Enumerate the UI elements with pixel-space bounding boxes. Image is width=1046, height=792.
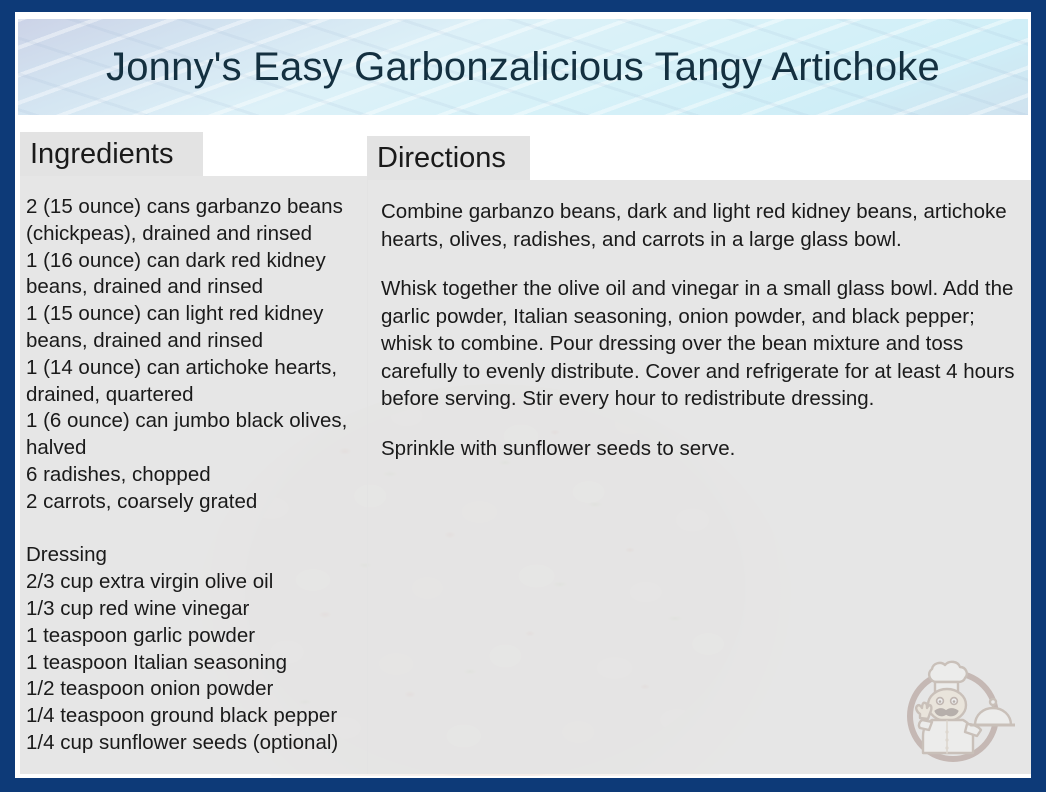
ingredient-item: 2 (15 ounce) cans garbanzo beans (chickp… <box>26 194 362 248</box>
dressing-item: 1/4 teaspoon ground black pepper <box>26 703 362 730</box>
directions-list: Combine garbanzo beans, dark and light r… <box>367 180 1031 774</box>
ingredient-item: 1 (15 ounce) can light red kidney beans,… <box>26 301 362 355</box>
dressing-item: 2/3 cup extra virgin olive oil <box>26 569 362 596</box>
dressing-item: 1/3 cup red wine vinegar <box>26 596 362 623</box>
ingredients-heading: Ingredients <box>20 132 203 176</box>
dressing-item: 1 teaspoon Italian seasoning <box>26 650 362 677</box>
directions-heading: Directions <box>367 136 530 180</box>
dressing-subheading: Dressing <box>26 542 362 569</box>
ingredient-item: 1 (14 ounce) can artichoke hearts, drain… <box>26 355 362 409</box>
dressing-item: 1/4 cup sunflower seeds (optional) <box>26 730 362 757</box>
ingredient-item: 1 (6 ounce) can jumbo black olives, halv… <box>26 408 362 462</box>
recipe-page: Jonny's Easy Garbonzalicious Tangy Artic… <box>15 12 1031 778</box>
recipe-card: Jonny's Easy Garbonzalicious Tangy Artic… <box>0 0 1046 792</box>
ingredient-item: 1 (16 ounce) can dark red kidney beans, … <box>26 248 362 302</box>
direction-step: Combine garbanzo beans, dark and light r… <box>381 198 1023 253</box>
ingredient-item: 6 radishes, chopped <box>26 462 362 489</box>
direction-step: Whisk together the olive oil and vinegar… <box>381 275 1023 413</box>
ingredients-list: 2 (15 ounce) cans garbanzo beans (chickp… <box>20 176 368 774</box>
dressing-item: 1/2 teaspoon onion powder <box>26 676 362 703</box>
direction-step: Sprinkle with sunflower seeds to serve. <box>381 435 1023 463</box>
dressing-item: 1 teaspoon garlic powder <box>26 623 362 650</box>
ingredient-item: 2 carrots, coarsely grated <box>26 489 362 516</box>
list-spacer <box>26 516 362 543</box>
content-panels: Ingredients 2 (15 ounce) cans garbanzo b… <box>15 12 1031 778</box>
